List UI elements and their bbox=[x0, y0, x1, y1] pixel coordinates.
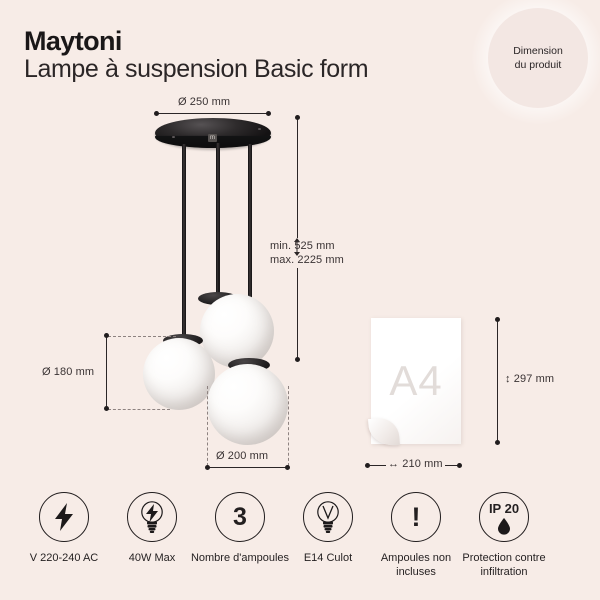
bulb-filament-glyph bbox=[313, 500, 343, 534]
exclamation-value: ! bbox=[412, 504, 421, 531]
globe-small-guide-bottom bbox=[108, 409, 170, 410]
badge-circle: Dimension du produit bbox=[488, 8, 588, 108]
globe-large-guide-right bbox=[288, 386, 289, 466]
bulb-bolt-glyph bbox=[137, 500, 167, 534]
spec-bulb-count-caption: Nombre d'ampoules bbox=[190, 552, 290, 566]
a4-height-dot-bottom bbox=[495, 440, 500, 445]
plate-screw-1 bbox=[258, 128, 261, 130]
spec-voltage-caption: V 220-240 AC bbox=[14, 552, 114, 566]
a4-width-dot-right bbox=[457, 463, 462, 468]
globe-small-dot-top bbox=[104, 333, 109, 338]
drop-height-line-upper bbox=[297, 118, 298, 238]
spec-icon-row: V 220-240 AC 40W Max 3 Nombre d'ampoules bbox=[0, 492, 600, 600]
lightning-bolt-icon bbox=[39, 492, 89, 542]
bulb-count-value: 3 bbox=[233, 505, 247, 530]
plate-diameter-line bbox=[156, 113, 270, 114]
globe-large-guide-left bbox=[207, 386, 208, 466]
a4-width-label: ↔ 210 mm bbox=[386, 458, 445, 470]
spec-ip-rating-caption: Protection contre infiltration bbox=[454, 552, 554, 580]
spec-voltage: V 220-240 AC bbox=[14, 492, 114, 566]
drop-min-label: min. 525 mm bbox=[270, 240, 335, 252]
globe-small-dot-bottom bbox=[104, 406, 109, 411]
a4-width-dot-left bbox=[365, 463, 370, 468]
globe-large-dim-line bbox=[208, 467, 288, 468]
bulb-power-icon bbox=[127, 492, 177, 542]
badge-line-1: Dimension bbox=[513, 44, 563, 58]
plate-screw-2 bbox=[172, 136, 175, 138]
globe-small-dim-line bbox=[106, 336, 107, 409]
globe-shade-right bbox=[207, 364, 288, 445]
spec-socket-caption: E14 Culot bbox=[278, 552, 378, 566]
dimension-badge: Dimension du produit bbox=[488, 8, 588, 108]
spec-bulbs-included: ! Ampoules non incluses bbox=[366, 492, 466, 580]
badge-line-2: du produit bbox=[513, 58, 563, 72]
globe-large-dot-right bbox=[285, 465, 290, 470]
plate-diameter-dot-right bbox=[266, 111, 271, 116]
drop-height-dot-bottom bbox=[295, 357, 300, 362]
exclamation-icon: ! bbox=[391, 492, 441, 542]
globe-small-label: Ø 180 mm bbox=[42, 366, 94, 378]
globe-large-label: Ø 200 mm bbox=[216, 450, 268, 462]
brand-name: Maytoni bbox=[24, 28, 122, 55]
drop-height-line-lower bbox=[297, 268, 298, 360]
droplet-glyph bbox=[497, 518, 511, 535]
ip-rating-value: IP 20 bbox=[480, 502, 528, 515]
spec-bulb-count: 3 Nombre d'ampoules bbox=[190, 492, 290, 566]
drop-height-dot-top bbox=[295, 115, 300, 120]
brand-logo-mark: m bbox=[208, 134, 217, 142]
plate-diameter-label: Ø 250 mm bbox=[178, 96, 230, 108]
spec-wattage-caption: 40W Max bbox=[102, 552, 202, 566]
bolt-glyph bbox=[53, 503, 75, 531]
a4-height-line bbox=[497, 320, 498, 442]
a4-height-dot-top bbox=[495, 317, 500, 322]
number-icon: 3 bbox=[215, 492, 265, 542]
drop-max-label: max. 2225 mm bbox=[270, 254, 344, 266]
globe-small-guide-top bbox=[108, 336, 176, 337]
bulb-socket-icon bbox=[303, 492, 353, 542]
a4-height-label: ↕ 297 mm bbox=[505, 373, 554, 385]
globe-large-dot-left bbox=[205, 465, 210, 470]
spec-wattage: 40W Max bbox=[102, 492, 202, 566]
page-title: Lampe à suspension Basic form bbox=[24, 55, 424, 85]
spec-ip-rating: IP 20 Protection contre infiltration bbox=[454, 492, 554, 580]
suspension-rod-left bbox=[182, 144, 186, 340]
plate-diameter-dot-left bbox=[154, 111, 159, 116]
ip-rating-droplet-icon: IP 20 bbox=[479, 492, 529, 542]
spec-bulbs-included-caption: Ampoules non incluses bbox=[366, 552, 466, 580]
globe-shade-left bbox=[143, 338, 215, 410]
spec-socket: E14 Culot bbox=[278, 492, 378, 566]
product-spec-sheet: Maytoni Lampe à suspension Basic form Di… bbox=[0, 0, 600, 600]
